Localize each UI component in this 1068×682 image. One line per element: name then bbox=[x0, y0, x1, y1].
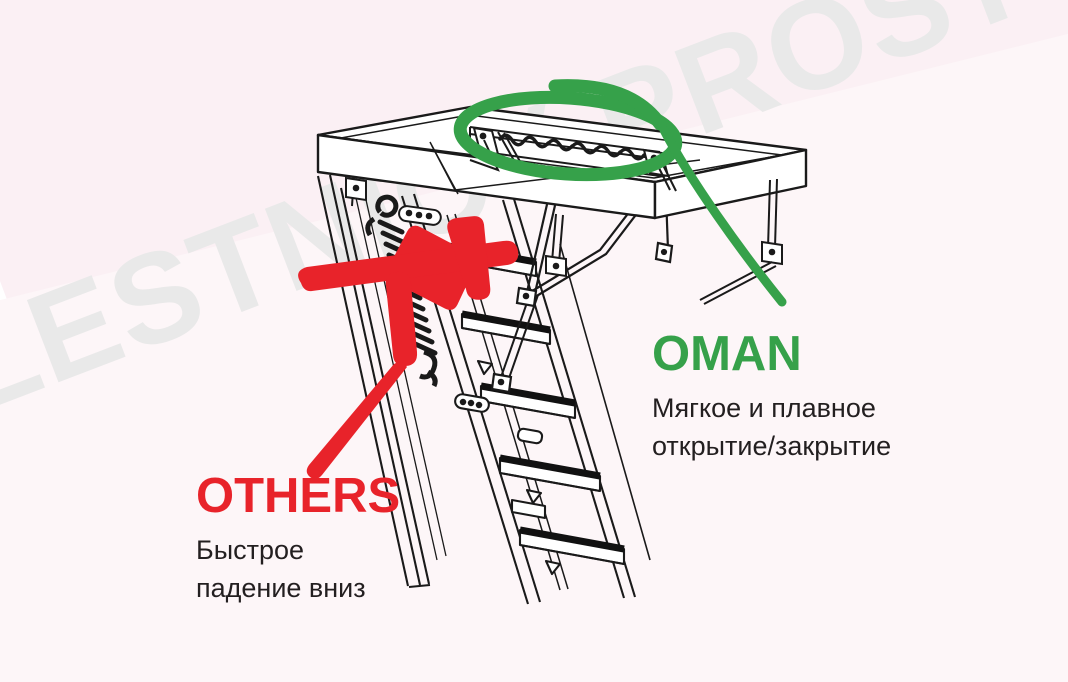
oman-heading: OMAN bbox=[652, 330, 982, 379]
others-subtitle-line-1: Быстрое bbox=[196, 531, 526, 569]
ladder-step bbox=[462, 314, 550, 344]
others-subtitle-line-2: падение вниз bbox=[196, 569, 526, 607]
illustration-canvas: LESTNICY-PROSTO.RU bbox=[0, 0, 1068, 682]
annotation-oman: OMAN Мягкое и плавное открытие/закрытие bbox=[652, 330, 982, 466]
oman-subtitle-line-1: Мягкое и плавное bbox=[652, 389, 982, 427]
annotation-others: OTHERS Быстрое падение вниз bbox=[196, 472, 526, 608]
ladder-step bbox=[520, 530, 624, 564]
others-heading: OTHERS bbox=[196, 472, 526, 521]
red-arrow-marker bbox=[298, 215, 518, 479]
oman-subtitle-line-2: открытие/закрытие bbox=[652, 427, 982, 465]
ladder-bracket bbox=[517, 428, 543, 444]
